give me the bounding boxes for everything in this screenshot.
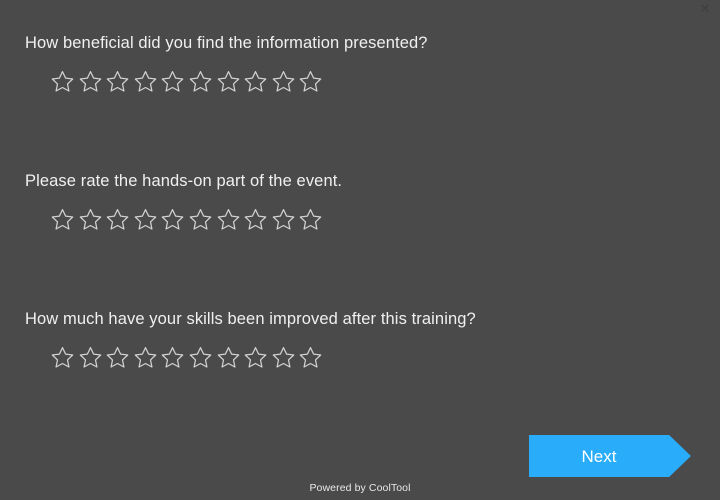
star-icon[interactable]: [51, 70, 74, 93]
star-icon[interactable]: [217, 70, 240, 93]
powered-by-footer: Powered by CoolTool: [0, 482, 720, 494]
question-text-3: How much have your skills been improved …: [25, 309, 720, 329]
star-icon[interactable]: [134, 346, 157, 369]
star-icon[interactable]: [79, 346, 102, 369]
star-icon[interactable]: [161, 346, 184, 369]
question-text-2: Please rate the hands-on part of the eve…: [25, 171, 720, 191]
star-icon[interactable]: [106, 70, 129, 93]
star-icon[interactable]: [134, 70, 157, 93]
star-icon[interactable]: [189, 208, 212, 231]
next-button[interactable]: Next: [529, 435, 691, 477]
question-block-2: Please rate the hands-on part of the eve…: [0, 171, 720, 231]
star-icon[interactable]: [79, 70, 102, 93]
star-rating-1[interactable]: [51, 70, 720, 93]
star-icon[interactable]: [244, 208, 267, 231]
star-icon[interactable]: [189, 70, 212, 93]
star-icon[interactable]: [161, 70, 184, 93]
star-icon[interactable]: [272, 208, 295, 231]
star-icon[interactable]: [244, 346, 267, 369]
star-icon[interactable]: [51, 208, 74, 231]
star-icon[interactable]: [79, 208, 102, 231]
star-rating-3[interactable]: [51, 346, 720, 369]
close-icon[interactable]: ✕: [697, 1, 713, 17]
star-icon[interactable]: [51, 346, 74, 369]
star-icon[interactable]: [299, 346, 322, 369]
star-icon[interactable]: [244, 70, 267, 93]
next-button-label: Next: [582, 448, 617, 465]
star-icon[interactable]: [161, 208, 184, 231]
survey-page: ✕ How beneficial did you find the inform…: [0, 0, 720, 500]
star-icon[interactable]: [217, 208, 240, 231]
star-icon[interactable]: [217, 346, 240, 369]
star-icon[interactable]: [106, 346, 129, 369]
star-icon[interactable]: [106, 208, 129, 231]
star-rating-2[interactable]: [51, 208, 720, 231]
star-icon[interactable]: [134, 208, 157, 231]
question-text-1: How beneficial did you find the informat…: [25, 33, 720, 53]
star-icon[interactable]: [189, 346, 212, 369]
question-block-1: How beneficial did you find the informat…: [0, 33, 720, 93]
star-icon[interactable]: [299, 208, 322, 231]
star-icon[interactable]: [299, 70, 322, 93]
question-block-3: How much have your skills been improved …: [0, 309, 720, 369]
star-icon[interactable]: [272, 70, 295, 93]
star-icon[interactable]: [272, 346, 295, 369]
